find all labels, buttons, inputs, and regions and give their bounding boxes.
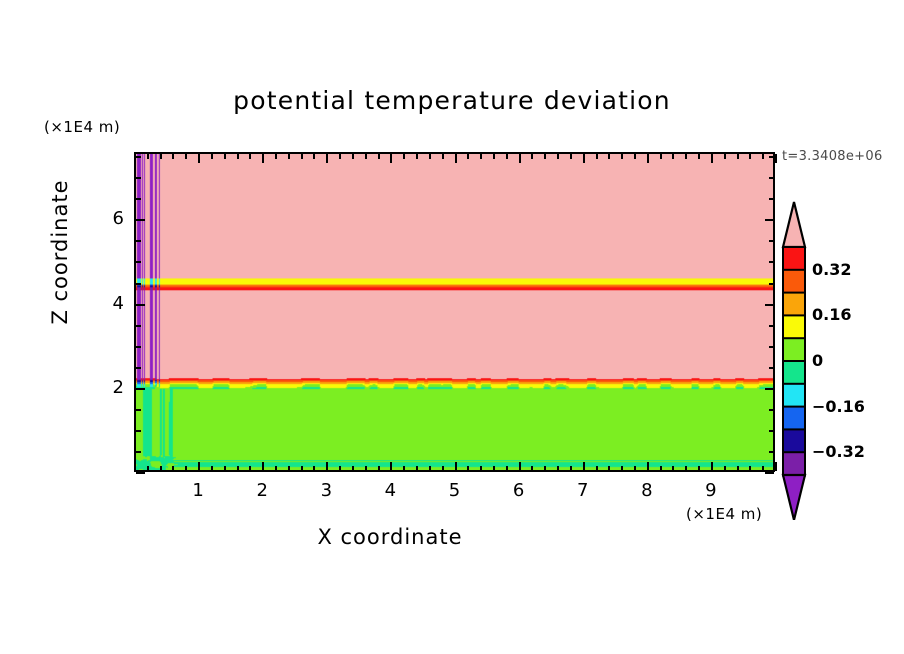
tick-mark [136, 304, 145, 306]
tick-mark [775, 154, 777, 163]
colorbar-band [783, 247, 805, 270]
tick-mark [749, 466, 751, 471]
tick-mark [326, 154, 328, 163]
tick-mark [685, 466, 687, 471]
tick-mark [185, 154, 187, 159]
tick-mark [326, 462, 328, 471]
tick-mark [339, 154, 341, 159]
tick-mark [136, 409, 141, 411]
tick-mark [172, 466, 174, 471]
tick-mark [769, 240, 774, 242]
x-axis-unit-label: (×1E4 m) [686, 505, 762, 523]
tick-mark [288, 154, 290, 159]
contour-field [136, 154, 773, 470]
tick-mark [467, 466, 469, 471]
tick-mark [769, 177, 774, 179]
y-tick-label: 6 [94, 208, 124, 229]
y-axis-title: Z coordinate [48, 152, 72, 352]
x-tick-label: 2 [242, 480, 282, 501]
timestamp-label: t=3.3408e+06 [782, 149, 883, 164]
x-tick-label: 9 [691, 480, 731, 501]
x-tick-label: 3 [306, 480, 346, 501]
y-tick-label: 2 [94, 377, 124, 398]
tick-mark [136, 283, 141, 285]
tick-mark [136, 325, 141, 327]
tick-mark [160, 466, 162, 471]
tick-mark [493, 466, 495, 471]
colorbar-band [783, 315, 805, 338]
tick-mark [288, 466, 290, 471]
colorbar-tick-label: 0.32 [812, 260, 851, 279]
tick-mark [301, 154, 303, 159]
colorbar-band [783, 338, 805, 361]
tick-mark [762, 154, 764, 159]
colorbar-over-arrow [783, 202, 805, 247]
tick-mark [608, 466, 610, 471]
tick-mark [647, 462, 649, 471]
tick-mark [698, 466, 700, 471]
tick-mark [224, 154, 226, 159]
tick-mark [531, 466, 533, 471]
tick-mark [672, 154, 674, 159]
tick-mark [596, 154, 598, 159]
tick-mark [262, 462, 264, 471]
tick-mark [769, 325, 774, 327]
tick-mark [765, 472, 774, 474]
tick-mark [685, 154, 687, 159]
tick-mark [416, 466, 418, 471]
tick-mark [301, 466, 303, 471]
colorbar-tick-label: −0.16 [812, 397, 865, 416]
tick-mark [769, 261, 774, 263]
tick-mark [136, 472, 145, 474]
tick-mark [136, 346, 141, 348]
tick-mark [660, 466, 662, 471]
x-tick-label: 7 [563, 480, 603, 501]
contour-plot-area [134, 152, 775, 472]
tick-mark [147, 466, 149, 471]
tick-mark [455, 154, 457, 163]
tick-mark [136, 388, 145, 390]
tick-mark [224, 466, 226, 471]
tick-mark [429, 466, 431, 471]
tick-mark [262, 154, 264, 163]
tick-mark [769, 283, 774, 285]
tick-mark [769, 156, 774, 158]
tick-mark [237, 154, 239, 159]
colorbar-tick-label: 0.16 [812, 305, 851, 324]
colorbar-swatches [781, 200, 807, 520]
x-tick-label: 5 [435, 480, 475, 501]
tick-mark [198, 154, 200, 163]
tick-mark [493, 154, 495, 159]
tick-mark [749, 154, 751, 159]
tick-mark [765, 388, 774, 390]
tick-mark [275, 466, 277, 471]
tick-mark [765, 304, 774, 306]
colorbar-band [783, 270, 805, 293]
tick-mark [136, 451, 141, 453]
tick-mark [769, 430, 774, 432]
tick-mark [769, 346, 774, 348]
tick-mark [506, 154, 508, 159]
tick-mark [634, 154, 636, 159]
tick-mark [136, 177, 141, 179]
tick-mark [136, 198, 141, 200]
colorbar-band [783, 429, 805, 452]
tick-mark [211, 154, 213, 159]
tick-mark [249, 466, 251, 471]
tick-mark [378, 154, 380, 159]
tick-mark [211, 466, 213, 471]
tick-mark [134, 462, 136, 471]
tick-mark [711, 462, 713, 471]
tick-mark [519, 462, 521, 471]
tick-mark [737, 466, 739, 471]
tick-mark [775, 462, 777, 471]
y-tick-label: 4 [94, 293, 124, 314]
tick-mark [769, 451, 774, 453]
tick-mark [608, 154, 610, 159]
tick-mark [136, 367, 141, 369]
tick-mark [136, 219, 145, 221]
tick-mark [544, 466, 546, 471]
tick-mark [403, 466, 405, 471]
tick-mark [769, 198, 774, 200]
tick-mark [160, 154, 162, 159]
colorbar-tick-label: −0.32 [812, 442, 865, 461]
tick-mark [467, 154, 469, 159]
x-tick-label: 8 [627, 480, 667, 501]
colorbar-tick-label: 0 [812, 351, 823, 370]
tick-mark [365, 466, 367, 471]
tick-mark [765, 219, 774, 221]
tick-mark [480, 466, 482, 471]
tick-mark [737, 154, 739, 159]
y-axis-unit-label: (×1E4 m) [44, 118, 120, 136]
tick-mark [172, 154, 174, 159]
colorbar-band [783, 293, 805, 316]
colorbar-band [783, 384, 805, 407]
tick-mark [647, 154, 649, 163]
tick-mark [711, 154, 713, 163]
tick-mark [249, 154, 251, 159]
tick-mark [403, 154, 405, 159]
x-tick-label: 4 [370, 480, 410, 501]
tick-mark [724, 466, 726, 471]
tick-mark [634, 466, 636, 471]
tick-mark [583, 462, 585, 471]
tick-mark [480, 154, 482, 159]
tick-mark [339, 466, 341, 471]
tick-mark [455, 462, 457, 471]
tick-mark [442, 466, 444, 471]
tick-mark [570, 154, 572, 159]
tick-mark [275, 154, 277, 159]
tick-mark [352, 154, 354, 159]
x-tick-label: 1 [178, 480, 218, 501]
tick-mark [596, 466, 598, 471]
tick-mark [313, 154, 315, 159]
x-axis-title: X coordinate [0, 525, 780, 549]
tick-mark [557, 154, 559, 159]
figure-canvas: potential temperature deviation (×1E4 m)… [0, 0, 904, 654]
tick-mark [416, 154, 418, 159]
x-tick-label: 6 [499, 480, 539, 501]
tick-mark [390, 154, 392, 163]
tick-mark [621, 466, 623, 471]
tick-mark [313, 466, 315, 471]
tick-mark [769, 367, 774, 369]
tick-mark [147, 154, 149, 159]
tick-mark [136, 261, 141, 263]
tick-mark [198, 462, 200, 471]
colorbar-band [783, 452, 805, 475]
tick-mark [237, 466, 239, 471]
tick-mark [544, 154, 546, 159]
tick-mark [531, 154, 533, 159]
tick-mark [365, 154, 367, 159]
tick-mark [136, 240, 141, 242]
tick-mark [583, 154, 585, 163]
colorbar-band [783, 407, 805, 430]
tick-mark [506, 466, 508, 471]
tick-mark [429, 154, 431, 159]
tick-mark [660, 154, 662, 159]
tick-mark [185, 466, 187, 471]
tick-mark [136, 430, 141, 432]
tick-mark [390, 462, 392, 471]
tick-mark [724, 154, 726, 159]
chart-title: potential temperature deviation [0, 86, 904, 115]
tick-mark [769, 409, 774, 411]
tick-mark [698, 154, 700, 159]
tick-mark [519, 154, 521, 163]
tick-mark [352, 466, 354, 471]
tick-mark [672, 466, 674, 471]
colorbar-band [783, 361, 805, 384]
tick-mark [762, 466, 764, 471]
tick-mark [570, 466, 572, 471]
tick-mark [557, 466, 559, 471]
tick-mark [378, 466, 380, 471]
colorbar [781, 200, 807, 520]
colorbar-under-arrow [783, 475, 805, 520]
tick-mark [442, 154, 444, 159]
tick-mark [136, 156, 141, 158]
tick-mark [621, 154, 623, 159]
